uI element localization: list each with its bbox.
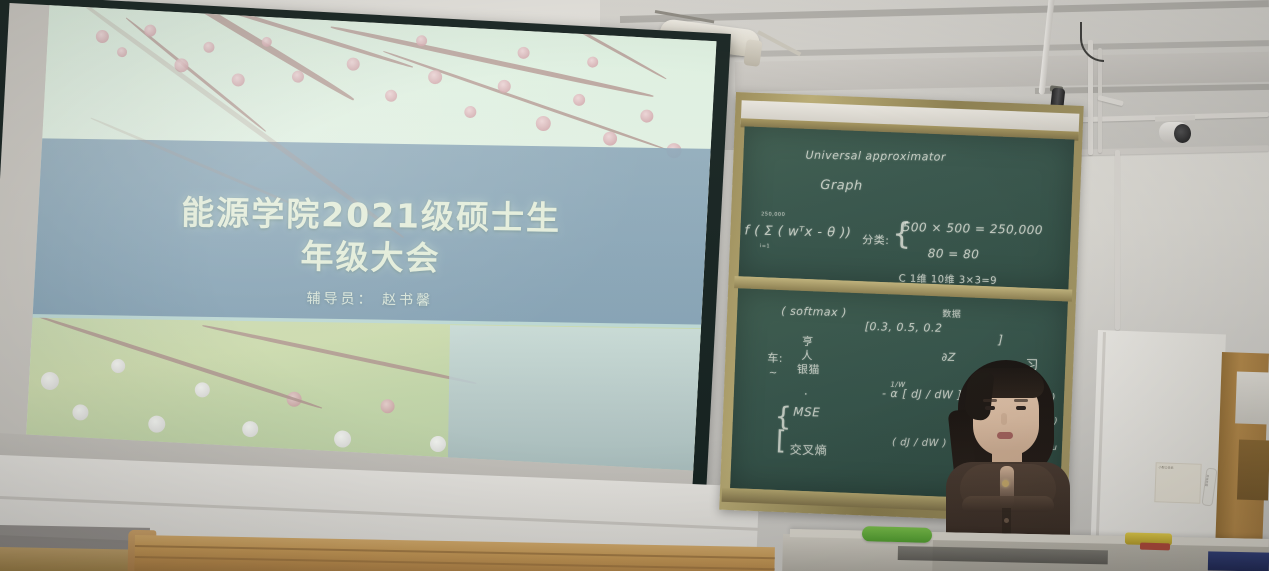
chalk-writing: 80 = 80 (928, 246, 980, 261)
wall-notice-sign: 小型公告纸 (1154, 462, 1201, 504)
roller-end-cap (743, 39, 762, 67)
blackboard-panel-top: Universal approximatorGraphf ( Σ ( wᵀx -… (739, 126, 1075, 289)
slide-text-block: 能源学院2021级硕士生 年级大会 辅导员： 赵书馨 (36, 190, 706, 315)
wall-conduit (1115, 150, 1120, 330)
blue-box-item (1208, 551, 1269, 571)
eye (1016, 406, 1026, 410)
eyebrow (983, 399, 997, 402)
chalk-writing: 银猫 (797, 361, 820, 378)
presentation-slide: 能源学院2021级硕士生 年级大会 辅导员： 赵书馨 (26, 5, 716, 470)
chalk-writing: [ (775, 426, 787, 456)
chalk-writing: ~ (769, 368, 778, 379)
chalk-writing: f ( Σ ( wᵀx - θ )) (744, 223, 851, 240)
door-window (1235, 371, 1269, 424)
red-marker-item[interactable] (1140, 543, 1170, 551)
chalk-writing: MSE (793, 405, 820, 420)
slide-photo-building (448, 325, 717, 471)
chalk-writing: 500 × 500 = 250,000 (903, 220, 1044, 237)
door-panel (1237, 439, 1269, 500)
necklace-pendant (1002, 480, 1009, 487)
chalk-writing: 数据 (942, 307, 961, 320)
chalk-writing: 250,000 (761, 211, 785, 218)
chalk-writing: 交叉熵 (790, 441, 828, 459)
chalk-writing: ( softmax ) (781, 305, 847, 319)
button (1004, 518, 1009, 523)
switch-label-text: 开关标签 (1204, 474, 1209, 483)
chalk-writing: Graph (820, 178, 863, 194)
bench-left-section (0, 547, 140, 571)
chalk-writing: ( dJ / dW ) (892, 437, 947, 449)
chalk-writing: · (804, 387, 809, 401)
mouth (997, 432, 1013, 439)
camera-lens-icon (1174, 124, 1191, 143)
chalk-writing: [0.3, 0.5, 0.2 (865, 320, 943, 335)
chalk-writing: ] (998, 333, 1004, 347)
right-wall-panel (1090, 330, 1225, 549)
chalk-writing: i=1 (760, 243, 770, 249)
chalk-writing: 1/W (890, 381, 905, 389)
green-cloth-item[interactable] (862, 526, 932, 543)
eyebrow (1014, 399, 1028, 402)
chalk-writing: 车: (767, 350, 783, 366)
chalk-writing: Universal approximator (805, 149, 946, 164)
chalk-writing: 分类: (862, 231, 890, 248)
classroom-photo-scene: ViewStar (0, 0, 1269, 571)
eye (985, 406, 995, 410)
nose (1001, 413, 1007, 425)
